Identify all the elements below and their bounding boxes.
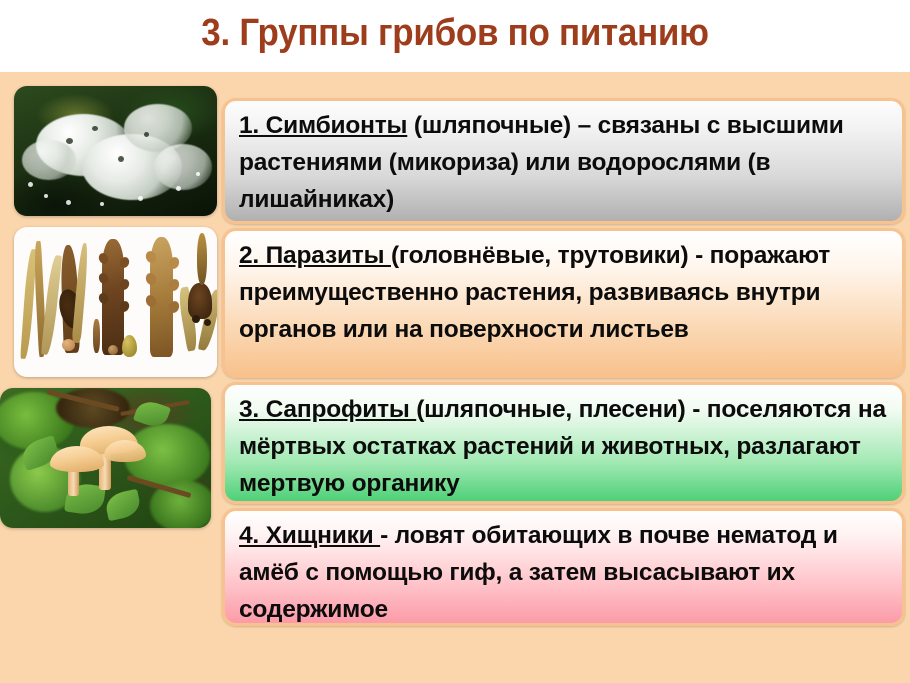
group-lead-parasites: 2. Паразиты bbox=[239, 242, 391, 269]
slide-canvas: 3. Группы грибов по питанию bbox=[0, 0, 910, 683]
group-block-symbionts[interactable]: 1. Симбионты (шляпочные) – связаны с выс… bbox=[222, 98, 905, 224]
smut-photo-scene bbox=[14, 227, 217, 377]
group-lead-predators: 4. Хищники bbox=[239, 522, 380, 549]
lichen-photo-scene bbox=[14, 86, 217, 216]
mushrooms-photo-scene bbox=[0, 388, 211, 528]
group-lead-symbionts: 1. Симбионты bbox=[239, 112, 407, 139]
group-block-parasites[interactable]: 2. Паразиты (головнёвые, трутовики) - по… bbox=[222, 228, 905, 378]
group-block-saprophytes[interactable]: 3. Сапрофиты (шляпочные, плесени) - посе… bbox=[222, 382, 905, 504]
lichen-photo bbox=[14, 86, 217, 216]
mushrooms-photo bbox=[0, 388, 211, 528]
smut-photo bbox=[14, 227, 217, 377]
group-block-predators[interactable]: 4. Хищники - ловят обитающих в почве нем… bbox=[222, 508, 905, 626]
group-lead-saprophytes: 3. Сапрофиты bbox=[239, 396, 416, 423]
page-title: 3. Группы грибов по питанию bbox=[36, 8, 873, 58]
